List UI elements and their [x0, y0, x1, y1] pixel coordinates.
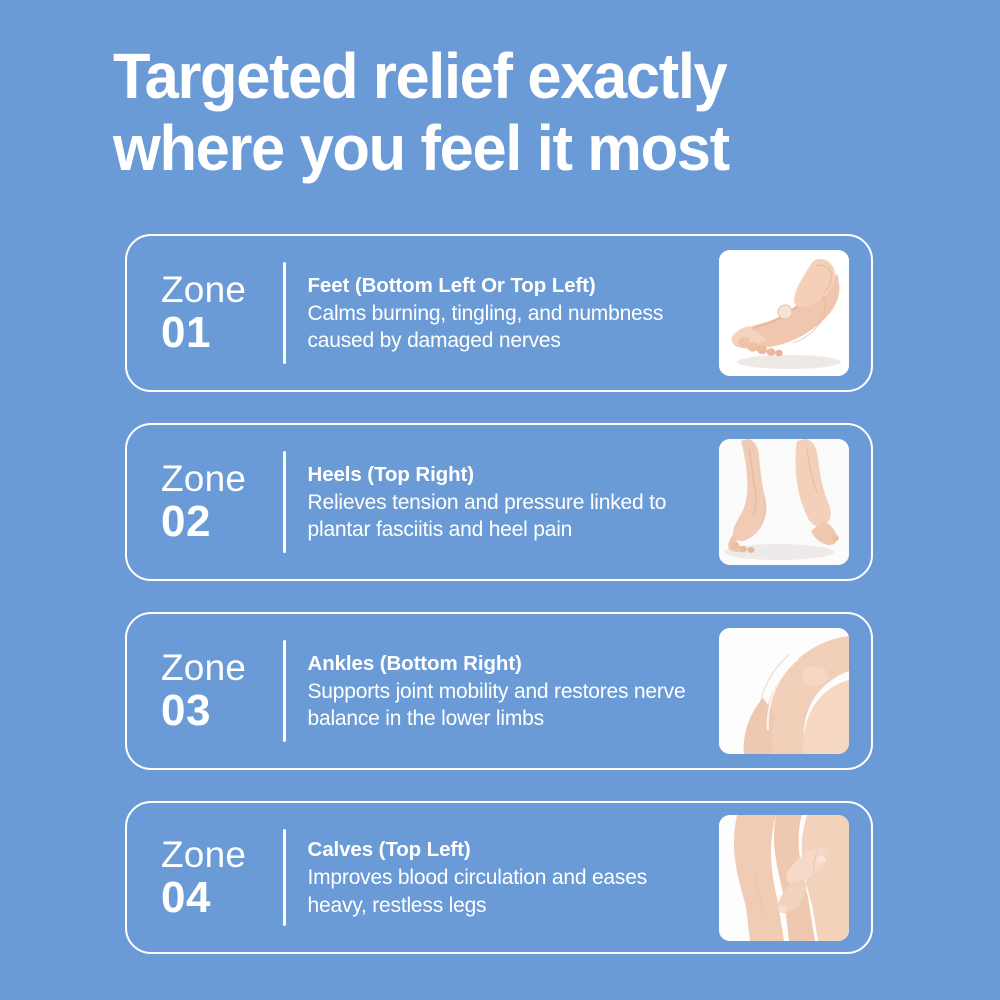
zone-description: Supports joint mobility and restores ner…: [308, 678, 708, 733]
zone-label: Zone: [161, 459, 283, 499]
zone-copy: Ankles (Bottom Right) Supports joint mob…: [286, 650, 720, 733]
bent-leg-knee-photo: [719, 628, 849, 754]
zone-description: Improves blood circulation and eases hea…: [308, 864, 708, 919]
heels-walking-feet-photo: [719, 439, 849, 565]
page-title: Targeted relief exactly where you feel i…: [113, 40, 900, 184]
zone-badge: Zone 04: [155, 835, 283, 921]
zone-card-01[interactable]: Zone 01 Feet (Bottom Left Or Top Left) C…: [125, 234, 873, 392]
zone-title: Feet (Bottom Left Or Top Left): [308, 272, 708, 299]
headline-line-1: Targeted relief exactly: [113, 40, 900, 112]
zone-title: Calves (Top Left): [308, 836, 708, 863]
feet-hands-massage-photo: [719, 250, 849, 376]
zone-card-04[interactable]: Zone 04 Calves (Top Left) Improves blood…: [125, 801, 873, 954]
zone-number: 02: [161, 499, 283, 545]
zone-number: 04: [161, 875, 283, 921]
zone-card-02[interactable]: Zone 02 Heels (Top Right) Relieves tensi…: [125, 423, 873, 581]
zone-badge: Zone 02: [155, 459, 283, 545]
zone-number: 01: [161, 310, 283, 356]
zone-title: Heels (Top Right): [308, 461, 708, 488]
zone-description: Calms burning, tingling, and numbness ca…: [308, 300, 708, 355]
zone-label: Zone: [161, 270, 283, 310]
zone-copy: Calves (Top Left) Improves blood circula…: [286, 836, 720, 919]
zone-label: Zone: [161, 648, 283, 688]
zone-label: Zone: [161, 835, 283, 875]
zone-badge: Zone 03: [155, 648, 283, 734]
zone-card-list: Zone 01 Feet (Bottom Left Or Top Left) C…: [125, 234, 873, 954]
zone-title: Ankles (Bottom Right): [308, 650, 708, 677]
zone-number: 03: [161, 688, 283, 734]
zone-description: Relieves tension and pressure linked to …: [308, 489, 708, 544]
zone-card-03[interactable]: Zone 03 Ankles (Bottom Right) Supports j…: [125, 612, 873, 770]
calf-massage-hands-photo: [719, 815, 849, 941]
poster-canvas: Targeted relief exactly where you feel i…: [0, 0, 1000, 1000]
zone-copy: Feet (Bottom Left Or Top Left) Calms bur…: [286, 272, 720, 355]
zone-copy: Heels (Top Right) Relieves tension and p…: [286, 461, 720, 544]
headline-line-2: where you feel it most: [113, 112, 900, 184]
zone-badge: Zone 01: [155, 270, 283, 356]
